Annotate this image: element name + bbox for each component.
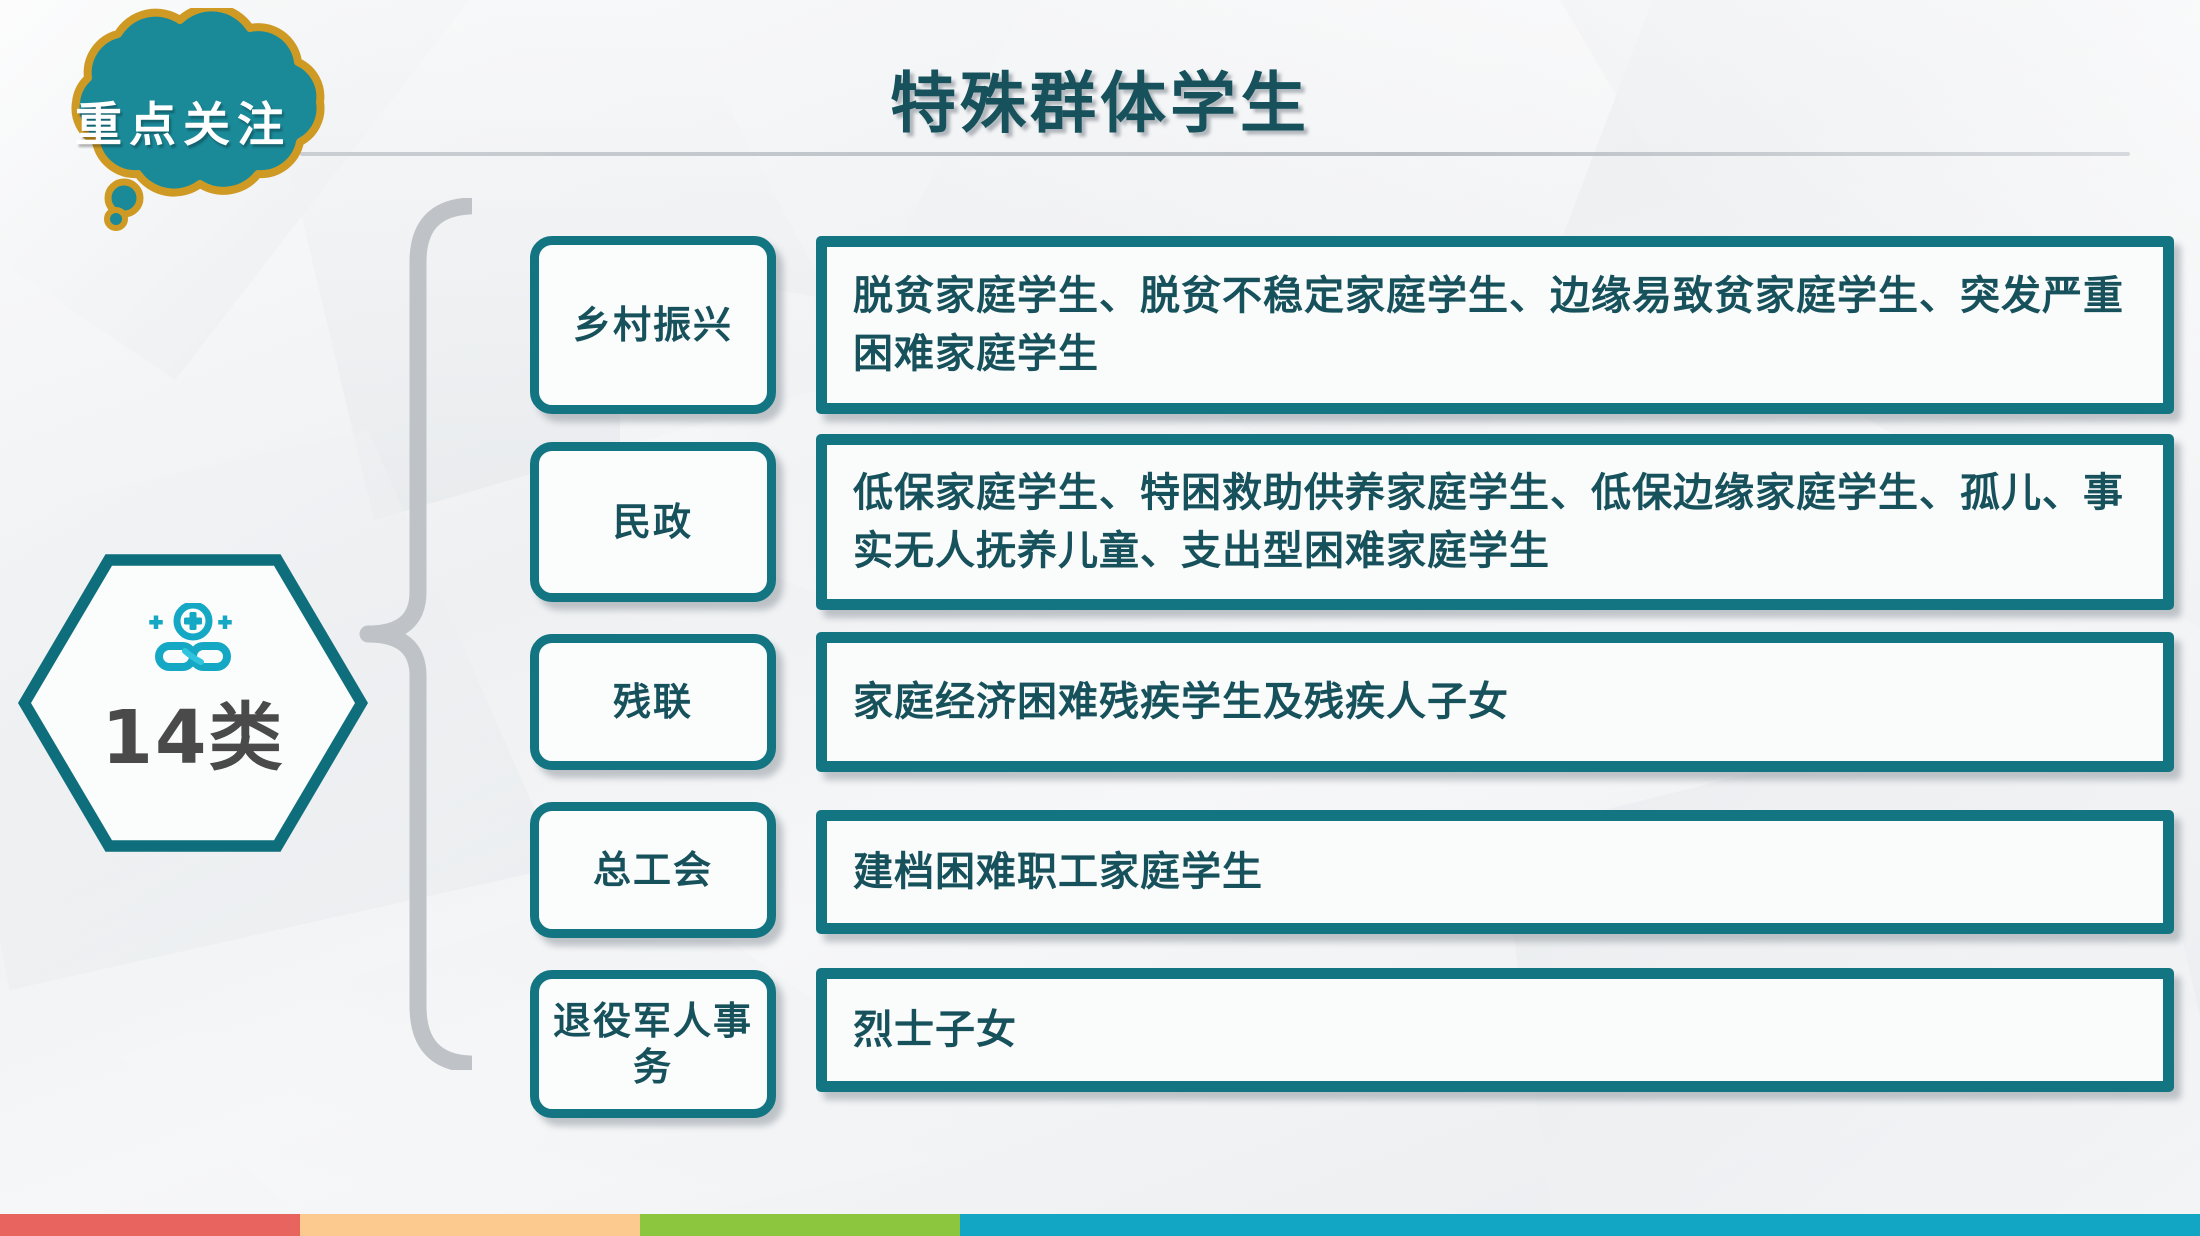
category-box[interactable]: 退役军人事务 xyxy=(530,970,776,1118)
footer-segment xyxy=(960,1214,2200,1236)
description-box[interactable]: 建档困难职工家庭学生 xyxy=(816,810,2174,934)
description-box[interactable]: 脱贫家庭学生、脱贫不稳定家庭学生、边缘易致贫家庭学生、突发严重困难家庭学生 xyxy=(816,236,2174,414)
category-label: 残联 xyxy=(613,679,693,725)
description-box[interactable]: 烈士子女 xyxy=(816,968,2174,1092)
category-box[interactable]: 总工会 xyxy=(530,802,776,938)
category-box[interactable]: 残联 xyxy=(530,634,776,770)
category-box[interactable]: 民政 xyxy=(530,442,776,602)
description-text: 烈士子女 xyxy=(827,1001,1043,1059)
person-plus-chain-icon xyxy=(18,603,368,677)
description-text: 建档困难职工家庭学生 xyxy=(827,843,1289,901)
summary-value: 14类 xyxy=(18,678,368,785)
category-label: 总工会 xyxy=(593,847,713,893)
description-text: 低保家庭学生、特困救助供养家庭学生、低保边缘家庭学生、孤儿、事实无人抚养儿童、支… xyxy=(827,464,2163,580)
description-box[interactable]: 低保家庭学生、特困救助供养家庭学生、低保边缘家庭学生、孤儿、事实无人抚养儿童、支… xyxy=(816,434,2174,610)
description-box[interactable]: 家庭经济困难残疾学生及残疾人子女 xyxy=(816,632,2174,772)
footer-segment xyxy=(0,1214,300,1236)
cloud-badge: 重点关注 xyxy=(18,8,348,238)
category-label: 民政 xyxy=(613,499,693,545)
footer-color-bar xyxy=(0,1214,2200,1236)
category-label: 退役军人事务 xyxy=(539,998,767,1091)
category-label: 乡村振兴 xyxy=(573,302,733,348)
footer-segment xyxy=(300,1214,640,1236)
category-box[interactable]: 乡村振兴 xyxy=(530,236,776,414)
summary-hexagon: 14类 xyxy=(18,548,368,858)
footer-segment xyxy=(640,1214,960,1236)
description-text: 脱贫家庭学生、脱贫不稳定家庭学生、边缘易致贫家庭学生、突发严重困难家庭学生 xyxy=(827,267,2163,383)
cloud-badge-label: 重点关注 xyxy=(18,86,348,155)
description-text: 家庭经济困难残疾学生及残疾人子女 xyxy=(827,673,1535,731)
slide-canvas: 特殊群体学生 重点关注 xyxy=(0,0,2200,1236)
title-divider xyxy=(300,152,2130,156)
bracket-connector xyxy=(352,198,472,1070)
